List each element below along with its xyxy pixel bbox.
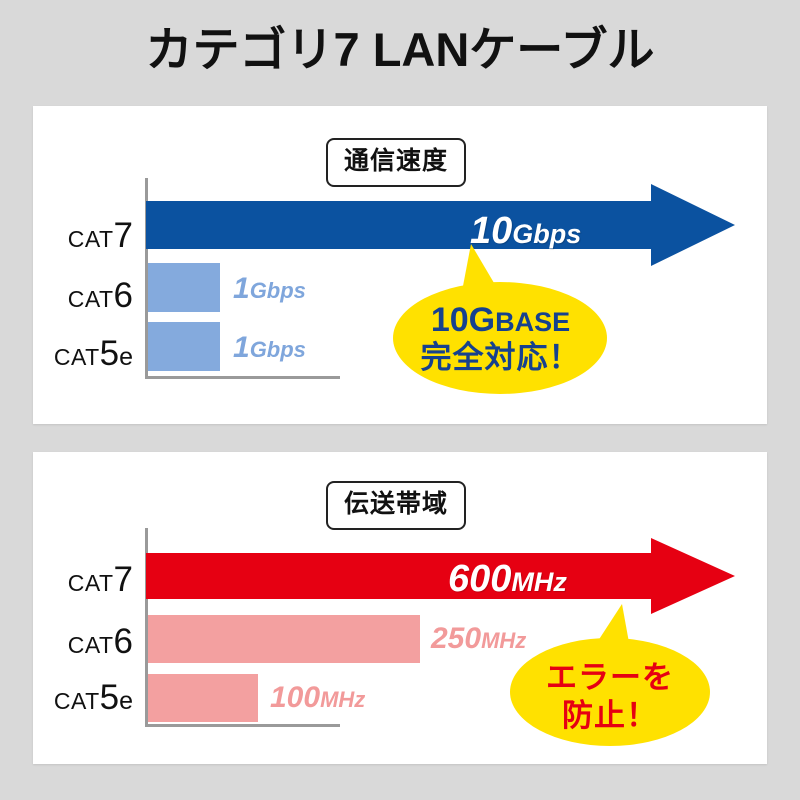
category-number: 6	[114, 622, 133, 661]
callout-error-line2: 防止！	[510, 700, 710, 733]
value-unit: Gbps	[250, 278, 306, 303]
category-number: 7	[114, 216, 133, 255]
category-word: CAT	[54, 344, 100, 370]
category-word: CAT	[68, 570, 114, 596]
category-word: CAT	[68, 286, 114, 312]
callout-10gbase: 10GBASE 完全対応！	[393, 244, 608, 394]
value-label-cat6-speed: 1Gbps	[233, 274, 306, 304]
category-number: 7	[114, 560, 133, 599]
value-number: 100	[270, 681, 320, 714]
bar-cat5e-bandwidth	[148, 674, 258, 722]
axis-horizontal-speed	[145, 376, 340, 379]
value-number: 250	[431, 622, 481, 655]
category-suffix: e	[119, 687, 133, 715]
category-label-cat5e-speed: CAT5e	[33, 336, 133, 371]
category-label-cat5e-bandwidth: CAT5e	[33, 680, 133, 715]
callout-10gbase-line1: 10GBASE	[393, 302, 608, 338]
category-word: CAT	[68, 632, 114, 658]
category-label-cat7-bandwidth: CAT7	[33, 562, 133, 597]
category-label-cat7-speed: CAT7	[33, 218, 133, 253]
bar-cat5e-speed	[148, 322, 220, 371]
value-label-cat7-bandwidth: 600MHz	[448, 560, 567, 598]
value-unit: Gbps	[250, 337, 306, 362]
value-label-cat5e-speed: 1Gbps	[233, 333, 306, 363]
callout-base-text: BASE	[495, 307, 570, 337]
value-unit: MHz	[320, 687, 365, 712]
section-heading-speed: 通信速度	[326, 138, 466, 187]
category-label-cat6-bandwidth: CAT6	[33, 624, 133, 659]
callout-error-line1: エラーを	[510, 662, 710, 695]
bar-cat7-bandwidth-arrow	[146, 538, 735, 614]
category-word: CAT	[68, 226, 114, 252]
axis-horizontal-bandwidth	[145, 724, 340, 727]
category-number: 6	[114, 276, 133, 315]
callout-10g-text: 10G	[431, 301, 495, 339]
value-number: 1	[233, 331, 250, 364]
category-label-cat6-speed: CAT6	[33, 278, 133, 313]
bar-cat6-speed	[148, 263, 220, 312]
section-heading-bandwidth: 伝送帯域	[326, 481, 466, 530]
callout-prevent-errors: エラーを 防止！	[510, 604, 710, 746]
value-unit: MHz	[511, 567, 567, 597]
panel-communication-speed: 通信速度 CAT7 CAT6 CAT5e 10Gbps 1Gbps	[33, 106, 767, 424]
value-label-cat5e-bandwidth: 100MHz	[270, 683, 365, 713]
bar-cat6-bandwidth	[148, 615, 420, 663]
panel-transmission-bandwidth: 伝送帯域 CAT7 CAT6 CAT5e 600MHz 250MHz	[33, 452, 767, 764]
category-word: CAT	[54, 688, 100, 714]
category-suffix: e	[119, 343, 133, 371]
callout-10gbase-line2: 完全対応！	[393, 342, 608, 375]
category-number: 5	[100, 678, 119, 717]
value-number: 1	[233, 272, 250, 305]
page-title: カテゴリ7 LANケーブル	[0, 22, 800, 78]
value-number: 600	[448, 558, 511, 600]
category-number: 5	[100, 334, 119, 373]
